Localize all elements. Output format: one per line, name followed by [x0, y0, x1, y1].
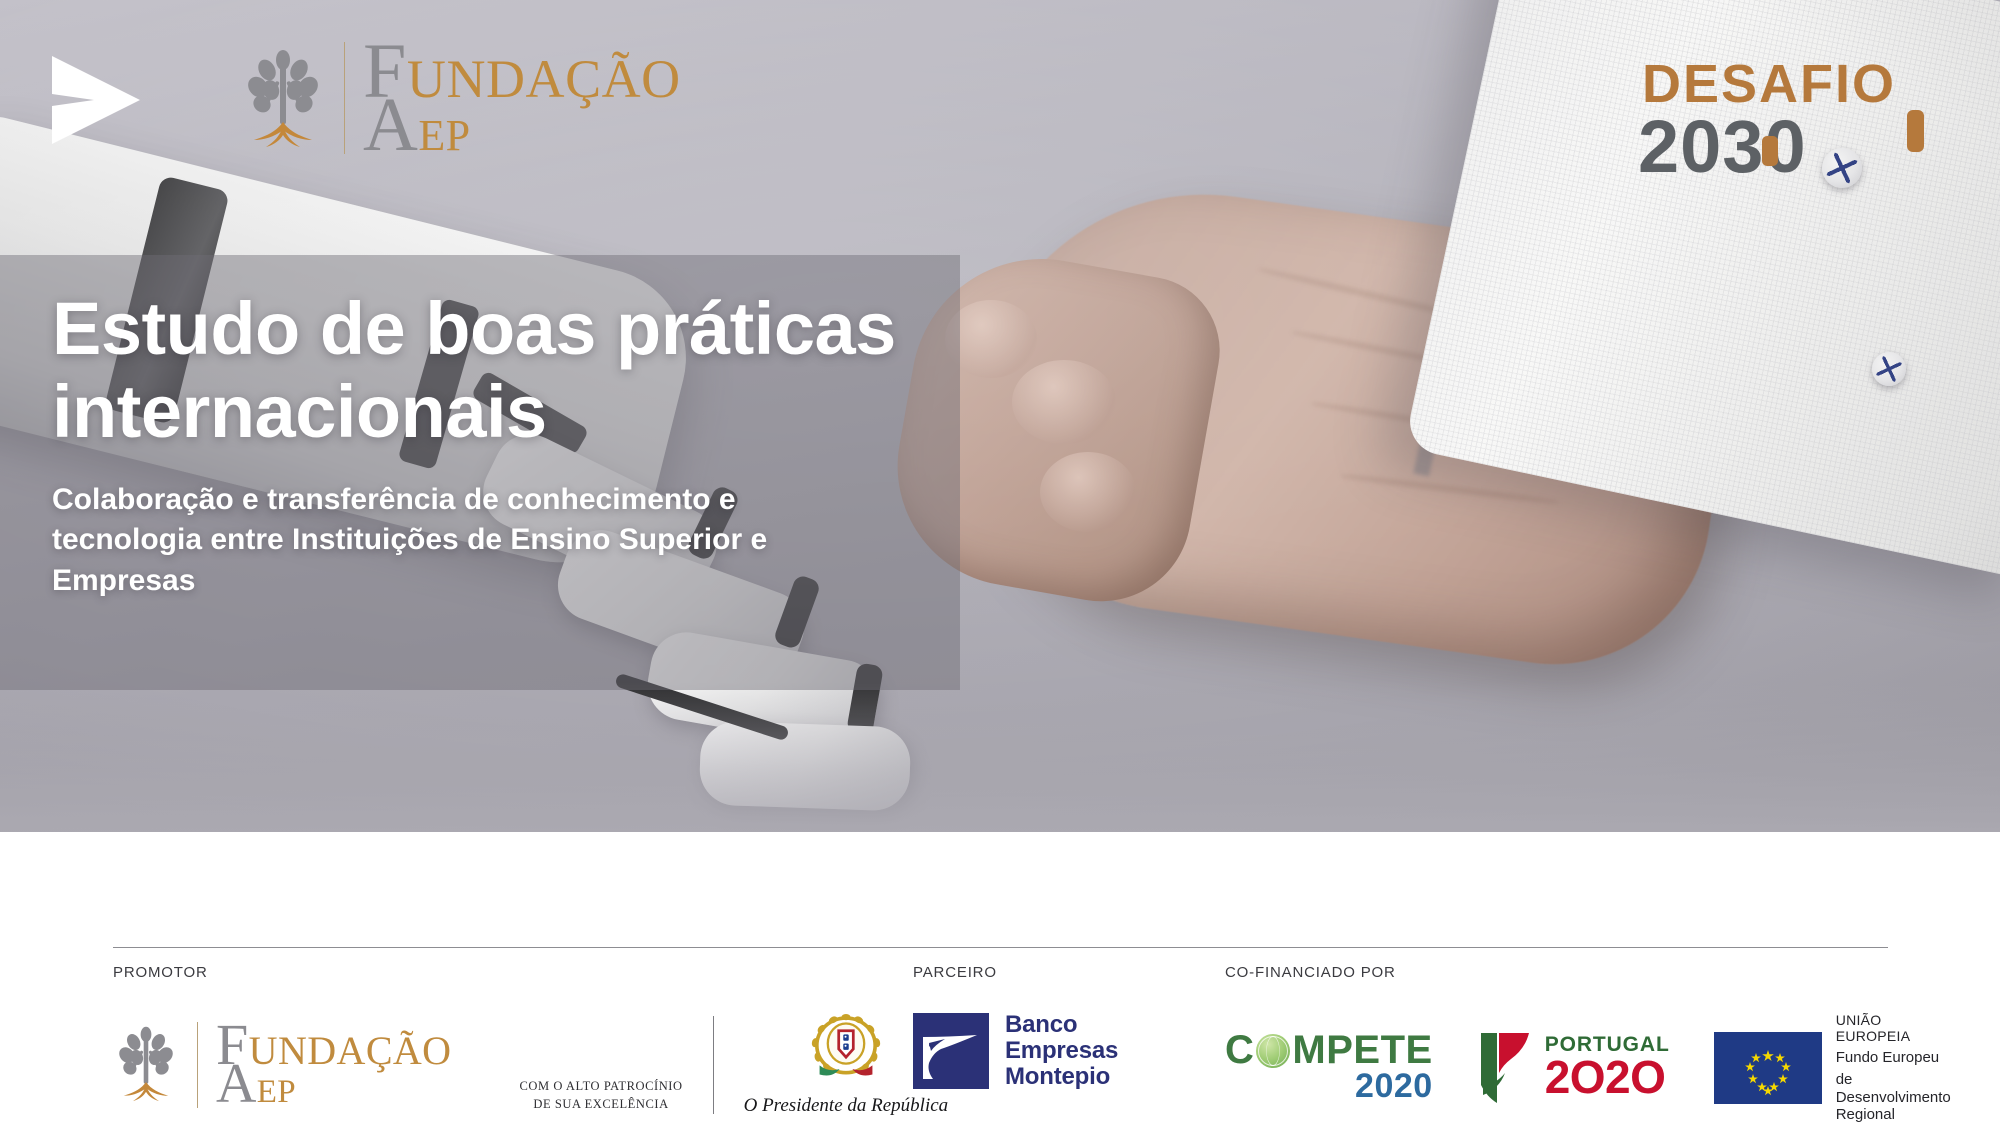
- parceiro-logo-group: Banco Empresas Montepio: [913, 1012, 1118, 1090]
- portugal-2020-flag-icon: [1477, 1031, 1535, 1105]
- presidente-republica-caption: O Presidente da República: [744, 1095, 949, 1117]
- alto-patrocinio-text: COM O ALTO PATROCÍNIO DE SUA EXCELÊNCIA: [519, 1077, 682, 1117]
- patrocinio-line-1: COM O ALTO PATROCÍNIO: [519, 1077, 682, 1095]
- portugal-2020-year: 2O2O: [1545, 1057, 1670, 1098]
- footer-vertical-divider: [713, 1016, 714, 1114]
- montepio-line-2: Empresas: [1005, 1038, 1118, 1064]
- compete-letter-c: C: [1225, 1032, 1254, 1069]
- cofinanciado-logo-group: C MPETE 2020 PORTUGAL 2O2O: [1225, 1012, 1951, 1123]
- desafio-year-2030: 2030: [1638, 105, 1807, 188]
- label-cofinanciado-por: CO-FINANCIADO POR: [1225, 964, 1396, 981]
- uniao-europeia-logo: UNIÃO EUROPEIA Fundo Europeu de Desenvol…: [1714, 1012, 1951, 1123]
- logo-divider: [344, 42, 345, 154]
- hero-banner: FUNDAÇÃO AEP DESAFIO 2030 Estudo de boas…: [0, 0, 2000, 832]
- compete-wordmark: C MPETE: [1225, 1032, 1433, 1069]
- eu-line-3: de Desenvolvimento Regional: [1836, 1071, 1951, 1123]
- faep-hero-line2-capital: A: [363, 83, 418, 167]
- tree-icon: [240, 40, 326, 157]
- logo-divider: [197, 1022, 198, 1108]
- portugal-2020-logo: PORTUGAL 2O2O: [1477, 1031, 1670, 1105]
- montepio-wordmark: Banco Empresas Montepio: [1005, 1012, 1118, 1090]
- faep-footer-line2-capital: A: [216, 1053, 257, 1115]
- label-promotor: PROMOTOR: [113, 964, 208, 981]
- compete-2020-logo: C MPETE 2020: [1225, 1032, 1433, 1102]
- page-subtitle: Colaboração e transferência de conhecime…: [52, 480, 882, 602]
- faep-footer-line2-rest: EP: [257, 1074, 296, 1110]
- compete-rest: MPETE: [1292, 1032, 1432, 1069]
- desafio-2030-logo: DESAFIO 2030: [1638, 50, 1958, 195]
- fundacao-aep-logo-hero: FUNDAÇÃO AEP: [240, 42, 681, 154]
- eu-flag-icon: [1714, 1032, 1822, 1104]
- compete-year: 2020: [1355, 1071, 1433, 1102]
- tree-icon: [113, 1019, 179, 1110]
- eu-line-2: Fundo Europeu: [1836, 1049, 1951, 1066]
- page-title: Estudo de boas práticas internacionais: [52, 288, 1052, 454]
- eu-line-1: UNIÃO EUROPEIA: [1836, 1012, 1951, 1044]
- fundacao-aep-logo-footer: FUNDAÇÃO AEP: [113, 1022, 451, 1108]
- eu-text-block: UNIÃO EUROPEIA Fundo Europeu de Desenvol…: [1836, 1012, 1951, 1123]
- photo-bottom-fade: [0, 682, 2000, 832]
- faep-hero-line2-rest: EP: [418, 111, 470, 160]
- montepio-line-1: Banco: [1005, 1012, 1118, 1038]
- patrocinio-line-2: DE SUA EXCELÊNCIA: [519, 1095, 682, 1113]
- footer-logo-columns: PROMOTOR PARCEIRO CO-FINANCIADO POR: [113, 964, 1903, 1124]
- portugal-coat-of-arms-icon: [805, 1012, 887, 1091]
- compete-globe-icon: [1256, 1034, 1290, 1068]
- footer: PROMOTOR PARCEIRO CO-FINANCIADO POR: [0, 832, 2000, 1125]
- label-parceiro: PARCEIRO: [913, 964, 997, 981]
- chevron-right-icon: [52, 48, 144, 152]
- hero-text-block: Estudo de boas práticas internacionais C…: [52, 288, 1052, 601]
- promotor-logo-group: FUNDAÇÃO AEP COM O ALTO PATROCÍNIO DE SU…: [113, 1012, 948, 1117]
- montepio-bird-icon: [913, 1013, 989, 1089]
- montepio-line-3: Montepio: [1005, 1064, 1118, 1090]
- portugal-2020-wordmark: PORTUGAL 2O2O: [1545, 1036, 1670, 1098]
- footer-divider: [113, 947, 1888, 948]
